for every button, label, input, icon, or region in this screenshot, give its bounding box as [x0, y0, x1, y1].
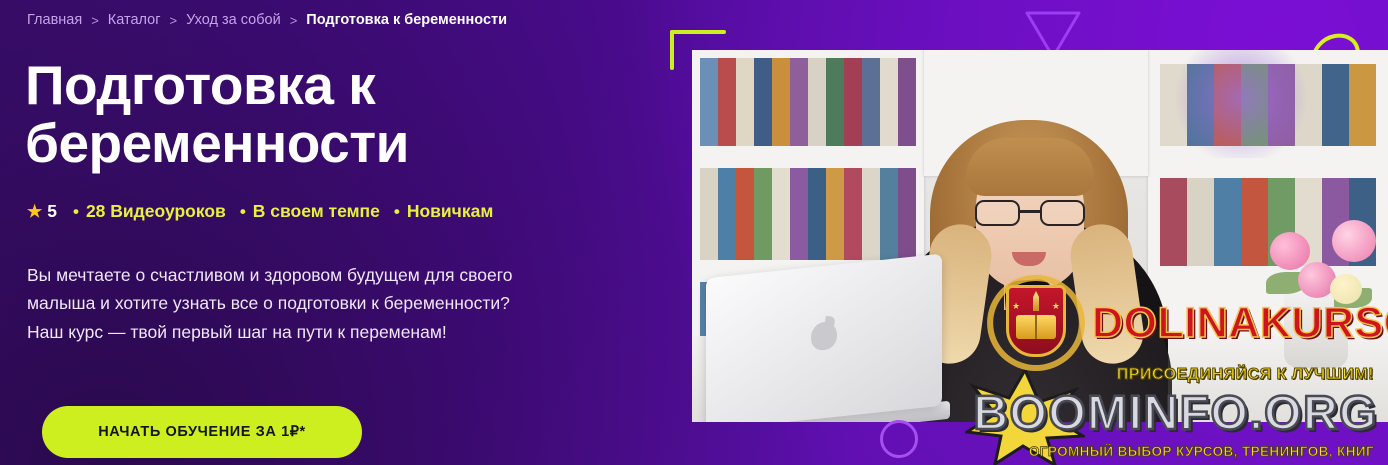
star-icon: ★: [27, 202, 42, 222]
breadcrumb-item-current: Подготовка к беременности: [306, 12, 507, 28]
watermark-boominfo-text: BOOMINFO.ORG: [973, 386, 1378, 441]
watermark-dolinakursov-text: DOLINAKURSOV: [1092, 299, 1388, 348]
eyeglasses: [974, 200, 1086, 226]
bullet-icon: •: [240, 202, 246, 222]
watermark-dolinakursov: ★★ DOLINAKURSOV: [988, 275, 1388, 371]
meta-level: Новичкам: [407, 201, 493, 222]
course-description: Вы мечтаете о счастливом и здоровом буду…: [27, 261, 537, 346]
shield-emblem-icon: ★★: [988, 275, 1084, 371]
purple-glow: [1166, 50, 1316, 158]
meta-lessons-count: 28 Видеоуроков: [86, 201, 226, 222]
hero-left-column: Главная > Каталог > Уход за собой > Подг…: [27, 0, 667, 465]
breadcrumb-separator: >: [170, 13, 178, 28]
rating-value: 5: [47, 201, 57, 222]
breadcrumb-separator: >: [290, 13, 298, 28]
meta-pace: В своем темпе: [253, 201, 380, 222]
circle-outline-decoration: [880, 420, 918, 458]
watermark-boominfo-tagline: ОГРОМНЫЙ ВЫБОР КУРСОВ, ТРЕНИНГОВ, КНИГ: [1029, 444, 1374, 459]
course-meta-row: ★ 5 • 28 Видеоуроков • В своем темпе • Н…: [27, 201, 507, 222]
breadcrumb-item-catalog[interactable]: Каталог: [108, 12, 161, 28]
breadcrumb-item-selfcare[interactable]: Уход за собой: [186, 12, 281, 28]
bullet-icon: •: [394, 202, 400, 222]
course-hero-banner: Главная > Каталог > Уход за собой > Подг…: [0, 0, 1388, 465]
page-title: Подготовка к беременности: [25, 57, 625, 173]
breadcrumb-separator: >: [91, 13, 99, 28]
apple-logo-icon: [811, 321, 837, 352]
watermark-dolinakursov-tagline: ПРИСОЕДИНЯЙСЯ К ЛУЧШИМ!: [1117, 366, 1374, 384]
laptop: [706, 254, 942, 422]
breadcrumb: Главная > Каталог > Уход за собой > Подг…: [27, 12, 507, 28]
start-course-button[interactable]: НАЧАТЬ ОБУЧЕНИЕ ЗА 1₽*: [42, 406, 362, 458]
breadcrumb-item-home[interactable]: Главная: [27, 12, 82, 28]
bullet-icon: •: [73, 202, 79, 222]
